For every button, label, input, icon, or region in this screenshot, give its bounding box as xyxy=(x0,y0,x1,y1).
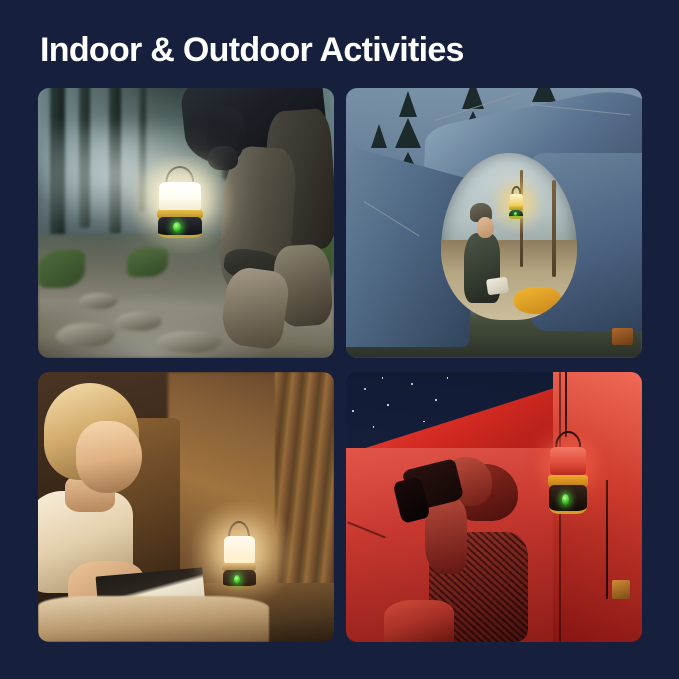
lantern-dome xyxy=(224,536,255,564)
star-icon xyxy=(373,426,375,428)
photographer-lap xyxy=(384,600,454,642)
trail-rock xyxy=(56,323,115,347)
scene-tent-reading xyxy=(346,88,642,358)
star-icon xyxy=(447,377,448,378)
hiker-boot-front xyxy=(219,265,291,351)
activity-photo-bedroom-reading[interactable]: Woman reading in bed beside a warm-white… xyxy=(38,372,334,642)
tent-pole xyxy=(552,180,555,277)
star-icon xyxy=(435,399,437,401)
sleeping-bag xyxy=(514,287,560,314)
star-icon xyxy=(364,388,366,390)
open-book xyxy=(486,277,509,296)
camping-lantern-icon xyxy=(222,521,258,591)
lantern-dome xyxy=(550,447,586,475)
activity-photo-tent-reading[interactable]: Camper reading a book inside a blue tent… xyxy=(346,88,642,358)
photographer-arm xyxy=(425,498,467,574)
woman-face xyxy=(76,421,141,494)
activity-image-grid: Hiker carrying a glowing camping lantern… xyxy=(38,88,642,642)
lantern-dome xyxy=(159,182,201,211)
tent-brand-tag xyxy=(612,328,633,344)
forest-fern xyxy=(127,247,168,277)
camping-lantern-icon xyxy=(509,186,524,219)
lantern-led-icon xyxy=(234,575,240,584)
hiker-glove xyxy=(208,146,238,170)
lantern-led-icon xyxy=(562,494,569,505)
camping-lantern-icon xyxy=(156,166,203,239)
scene-forest-hike xyxy=(38,88,334,358)
lantern-dome xyxy=(510,194,523,207)
star-icon xyxy=(423,421,425,423)
tent-brand-tag xyxy=(612,580,630,599)
forest-fern xyxy=(38,250,85,288)
lantern-led-icon xyxy=(173,222,181,231)
page-title: Indoor & Outdoor Activities xyxy=(40,28,640,74)
activities-banner: Indoor & Outdoor Activities xyxy=(0,0,679,679)
trail-rock xyxy=(156,331,221,353)
activity-photo-red-light-tent[interactable]: Photographer with a camera in a tent lit… xyxy=(346,372,642,642)
activity-photo-forest-hike[interactable]: Hiker carrying a glowing camping lantern… xyxy=(38,88,334,358)
scene-bedroom-reading xyxy=(38,372,334,642)
lantern-led-icon xyxy=(514,212,516,216)
star-icon xyxy=(382,377,384,379)
camping-lantern-icon xyxy=(547,431,588,517)
star-icon xyxy=(352,410,354,412)
scene-red-light-tent xyxy=(346,372,642,642)
star-icon xyxy=(387,404,389,406)
